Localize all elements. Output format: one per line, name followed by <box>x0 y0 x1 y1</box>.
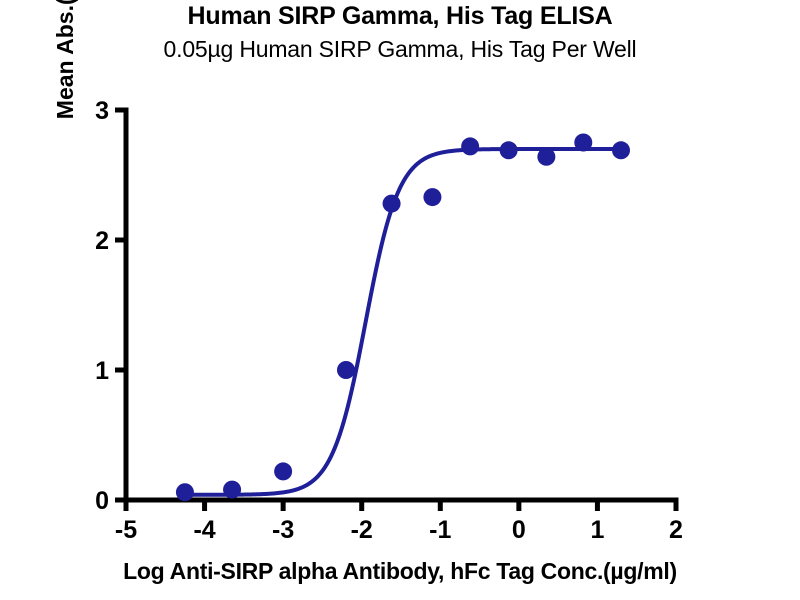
data-point <box>574 134 592 152</box>
x-tick-label: 2 <box>669 516 683 544</box>
x-tick-labels: -5-4-3-2-1012 <box>115 516 683 544</box>
data-point <box>274 462 292 480</box>
data-point <box>423 188 441 206</box>
x-tick-label: -1 <box>429 516 451 544</box>
y-tick-label: 2 <box>95 227 109 255</box>
data-point <box>337 361 355 379</box>
axis-layer <box>115 108 679 512</box>
data-point <box>500 141 518 159</box>
data-point <box>223 481 241 499</box>
data-points-layer <box>176 134 630 502</box>
x-tick-label: -4 <box>193 516 215 544</box>
data-point <box>383 195 401 213</box>
y-tick-label: 0 <box>95 487 109 515</box>
x-tick-label: 0 <box>512 516 526 544</box>
data-point <box>176 483 194 501</box>
x-tick-label: -2 <box>351 516 373 544</box>
data-point <box>537 148 555 166</box>
plot-area: 0123 -5-4-3-2-1012 <box>0 0 800 600</box>
y-tick-labels: 0123 <box>95 97 109 515</box>
x-tick-label: -5 <box>115 516 137 544</box>
x-tick-label: -3 <box>272 516 294 544</box>
sigmoidal-fit-curve <box>181 149 621 495</box>
y-tick-label: 3 <box>95 97 109 125</box>
data-point <box>612 141 630 159</box>
x-tick-label: 1 <box>590 516 604 544</box>
y-tick-label: 1 <box>95 357 109 385</box>
data-point <box>461 137 479 155</box>
elisa-chart-figure: Human SIRP Gamma, His Tag ELISA 0.05µg H… <box>0 0 800 600</box>
fit-curve-layer <box>181 149 621 495</box>
